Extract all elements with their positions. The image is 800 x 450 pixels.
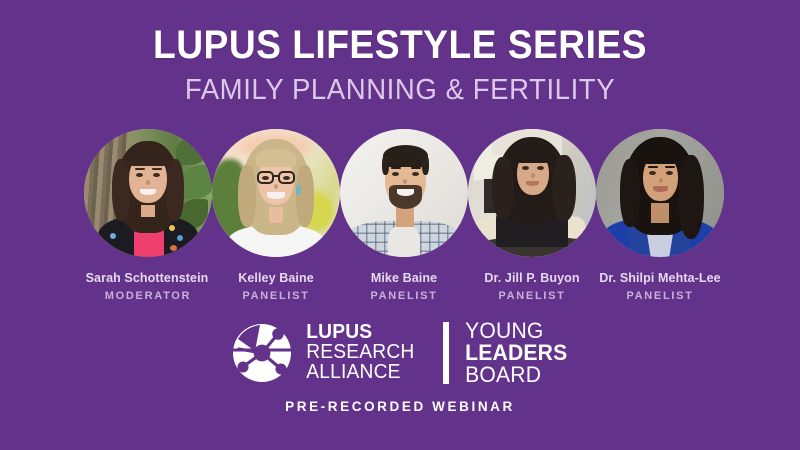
ylb-line-2: LEADERS <box>465 342 567 364</box>
panelist-card-jill-buyon: Dr. Jill P. Buyon PANELIST <box>468 129 596 309</box>
panelist-name: Kelley Baine <box>212 271 340 285</box>
panelist-role: PANELIST <box>212 290 340 302</box>
avatar-kelley-baine <box>212 129 340 257</box>
lra-line-3: ALLIANCE <box>306 363 414 383</box>
lra-line-1: LUPUS <box>306 323 414 343</box>
panelist-card-sarah-schottenstein: Sarah Schottenstein MODERATOR <box>84 129 212 309</box>
panelist-row: Sarah Schottenstein MODERATOR <box>84 129 716 309</box>
avatar-jill-buyon <box>468 129 596 257</box>
panelist-name: Dr. Shilpi Mehta-Lee <box>596 271 724 285</box>
avatar-mike-baine <box>340 129 468 257</box>
logo-lockup: LUPUS RESEARCH ALLIANCE YOUNG LEADERS BO… <box>0 320 800 385</box>
lupus-research-alliance-mark-icon <box>231 322 293 384</box>
avatar-shilpi-mehta-lee <box>596 129 724 257</box>
panelist-role: PANELIST <box>596 290 724 302</box>
panelist-role: MODERATOR <box>84 290 212 302</box>
lupus-research-alliance-wordmark: LUPUS RESEARCH ALLIANCE <box>306 323 414 382</box>
logo-divider <box>443 322 449 384</box>
panelist-role: PANELIST <box>468 290 596 302</box>
panelist-name: Mike Baine <box>340 271 468 285</box>
ylb-line-1: YOUNG <box>465 320 567 342</box>
panelist-card-mike-baine: Mike Baine PANELIST <box>340 129 468 309</box>
ylb-line-3: BOARD <box>465 364 567 386</box>
avatar-sarah-schottenstein <box>84 129 212 257</box>
panelist-role: PANELIST <box>340 290 468 302</box>
young-leaders-board-wordmark: YOUNG LEADERS BOARD <box>465 320 567 385</box>
lra-line-2: RESEARCH <box>306 343 414 363</box>
panelist-name: Dr. Jill P. Buyon <box>468 271 596 285</box>
webinar-format-label: PRE-RECORDED WEBINAR <box>0 399 800 414</box>
webinar-promo-banner: LUPUS LIFESTYLE SERIES FAMILY PLANNING &… <box>0 0 800 450</box>
page-subtitle: FAMILY PLANNING & FERTILITY <box>20 75 780 107</box>
title-block: LUPUS LIFESTYLE SERIES FAMILY PLANNING &… <box>0 24 800 107</box>
panelist-card-shilpi-mehta-lee: Dr. Shilpi Mehta-Lee PANELIST <box>596 129 724 309</box>
panelist-name: Sarah Schottenstein <box>82 271 212 285</box>
page-title: LUPUS LIFESTYLE SERIES <box>28 24 772 66</box>
panelist-card-kelley-baine: Kelley Baine PANELIST <box>212 129 340 309</box>
